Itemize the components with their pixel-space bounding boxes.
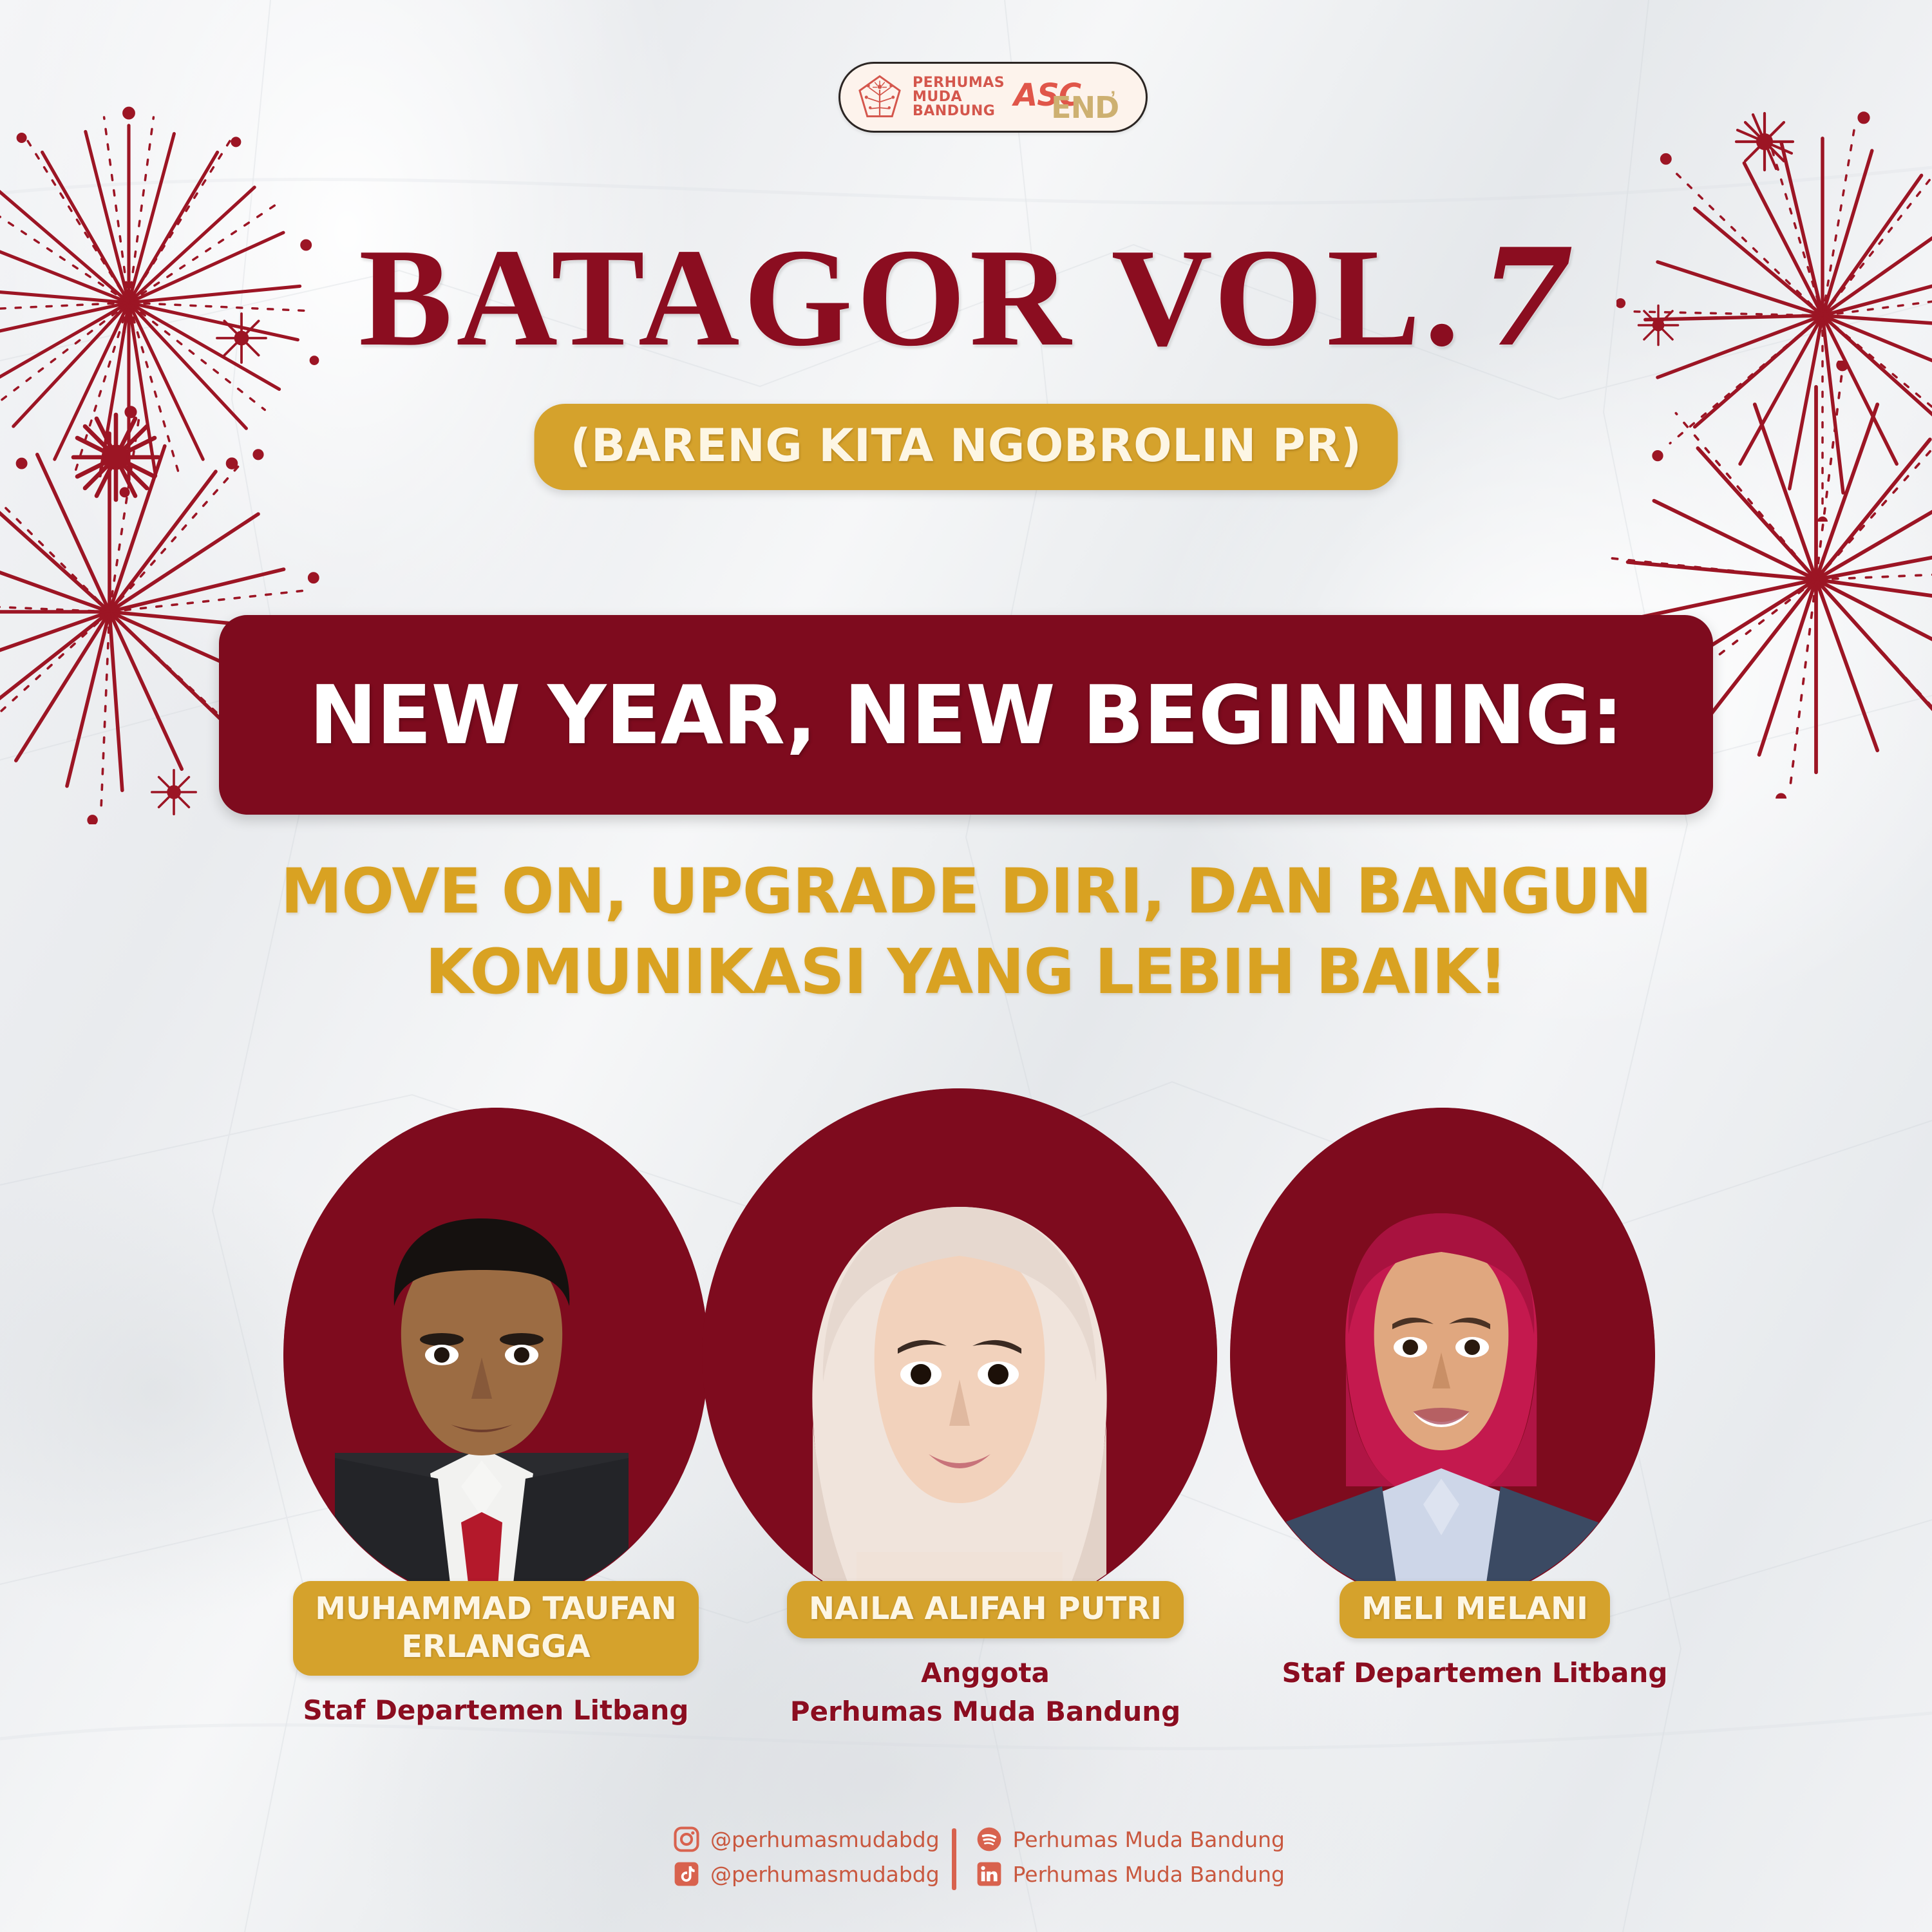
speaker-name-line1-1: MUHAMMAD TAUFAN [315, 1590, 677, 1628]
speaker-photo-naila-alifah-putri [702, 1088, 1217, 1623]
subhead-line-1: MOVE ON, UPGRADE DIRI, DAN BANGUN [0, 851, 1932, 932]
footer-divider [952, 1828, 956, 1890]
speaker-role-line1-3: Staf Departemen Litbang [1249, 1654, 1700, 1693]
subhead-line-2: KOMUNIKASI YANG LEBIH BAIK! [0, 932, 1932, 1012]
perhumas-tree-emblem-icon [856, 73, 904, 121]
speaker-role-line2-2: Perhumas Muda Bandung [741, 1692, 1230, 1732]
brand-logo-pill: PERHUMAS MUDA BANDUNG ASC END ’ [838, 62, 1148, 133]
speaker-name-line1-2: NAILA ALIFAH PUTRI [809, 1590, 1162, 1628]
speaker-card-3: MELI MELANI Staf Departemen Litbang [1249, 1581, 1700, 1692]
spotify-icon [976, 1826, 1003, 1853]
social-footer: @perhumasmudabdg @perhumasmudabdg Perhum… [673, 1826, 1285, 1890]
logo-line-bandung: BANDUNG [913, 104, 1005, 118]
title-main-text: BATAGOR VOL. [359, 220, 1463, 375]
ascend-end-text: END [1051, 90, 1119, 125]
social-row-tiktok[interactable]: @perhumasmudabdg [673, 1861, 944, 1888]
instagram-handle: @perhumasmudabdg [710, 1827, 940, 1852]
page-title: BATAGOR VOL.7 [0, 218, 1932, 379]
headline-banner: NEW YEAR, NEW BEGINNING: [219, 615, 1713, 815]
spotify-handle: Perhumas Muda Bandung [1013, 1827, 1285, 1852]
social-row-linkedin[interactable]: Perhumas Muda Bandung [976, 1861, 1285, 1888]
ascend-apostrophe-icon: ’ [1110, 88, 1115, 109]
speaker-card-2: NAILA ALIFAH PUTRI Anggota Perhumas Muda… [741, 1581, 1230, 1732]
subtitle-pill: (BARENG KITA NGOBROLIN PR) [535, 404, 1398, 490]
social-row-instagram[interactable]: @perhumasmudabdg [673, 1826, 944, 1853]
subtitle-text: (BARENG KITA NGOBROLIN PR) [571, 419, 1362, 472]
speaker-photo-group [0, 1088, 1932, 1604]
speaker-info-group: MUHAMMAD TAUFAN ERLANGGA Staf Departemen… [0, 1581, 1932, 1851]
speaker-card-1: MUHAMMAD TAUFAN ERLANGGA Staf Departemen… [270, 1581, 721, 1730]
headline-subtext: MOVE ON, UPGRADE DIRI, DAN BANGUN KOMUNI… [0, 851, 1932, 1012]
brand-logo-wordmark: PERHUMAS MUDA BANDUNG [913, 76, 1005, 118]
linkedin-icon [976, 1861, 1003, 1888]
speaker-name-badge-1: MUHAMMAD TAUFAN ERLANGGA [293, 1581, 699, 1676]
speaker-name-line2-1: ERLANGGA [315, 1628, 677, 1666]
logo-line-perhumas: PERHUMAS [913, 76, 1005, 90]
social-row-spotify[interactable]: Perhumas Muda Bandung [976, 1826, 1285, 1853]
speaker-name-line1-3: MELI MELANI [1361, 1590, 1588, 1628]
headline-banner-text: NEW YEAR, NEW BEGINNING: [309, 668, 1623, 762]
speaker-role-1: Staf Departemen Litbang [270, 1691, 721, 1730]
tiktok-handle: @perhumasmudabdg [710, 1862, 940, 1887]
logo-line-muda: MUDA [913, 90, 1005, 104]
social-column-right: Perhumas Muda Bandung Perhumas Muda Band… [976, 1826, 1285, 1888]
tiktok-icon [673, 1861, 700, 1888]
speaker-photo-meli-melani [1230, 1108, 1655, 1604]
speaker-role-3: Staf Departemen Litbang [1249, 1654, 1700, 1693]
speaker-name-badge-2: NAILA ALIFAH PUTRI [787, 1581, 1184, 1638]
speaker-role-2: Anggota Perhumas Muda Bandung [741, 1654, 1230, 1732]
speaker-photo-muhammad-taufan-erlangga [283, 1108, 708, 1604]
linkedin-handle: Perhumas Muda Bandung [1013, 1862, 1285, 1887]
social-column-left: @perhumasmudabdg @perhumasmudabdg [673, 1826, 944, 1888]
speaker-role-line1-1: Staf Departemen Litbang [270, 1691, 721, 1730]
title-volume-number: 7 [1463, 220, 1573, 377]
speaker-name-badge-3: MELI MELANI [1340, 1581, 1610, 1638]
speaker-role-line1-2: Anggota [741, 1654, 1230, 1693]
ascend-logo: ASC END ’ [1014, 73, 1112, 121]
instagram-icon [673, 1826, 700, 1853]
